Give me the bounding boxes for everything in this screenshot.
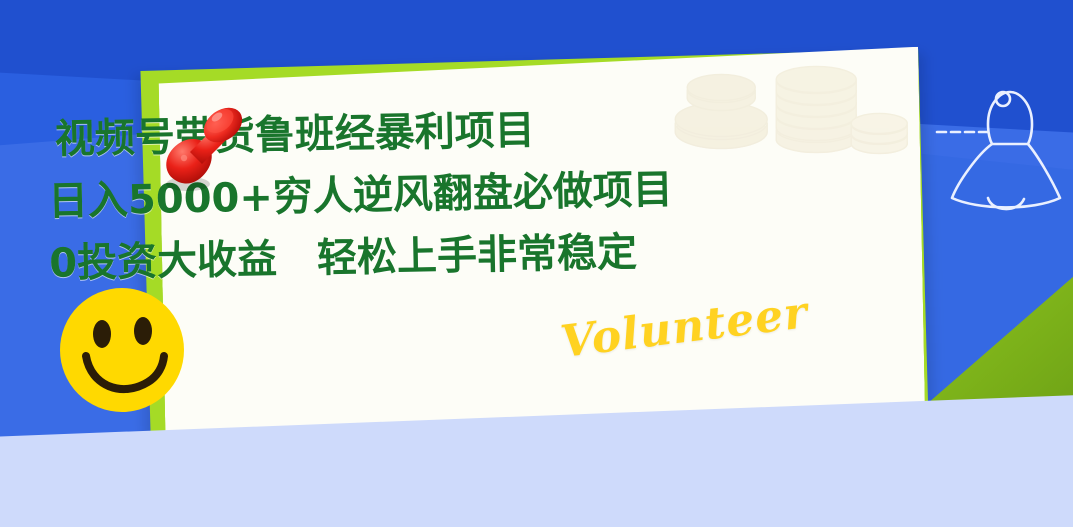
volunteer-figure-outline-icon (948, 78, 1064, 218)
poster-canvas: 视频号带货鲁班经暴利项目 日入5000+穷人逆风翻盘必做项目 0投资大收益 轻松… (0, 0, 1073, 527)
smiley-face-icon (58, 286, 186, 414)
red-pushpin-icon (158, 96, 246, 194)
